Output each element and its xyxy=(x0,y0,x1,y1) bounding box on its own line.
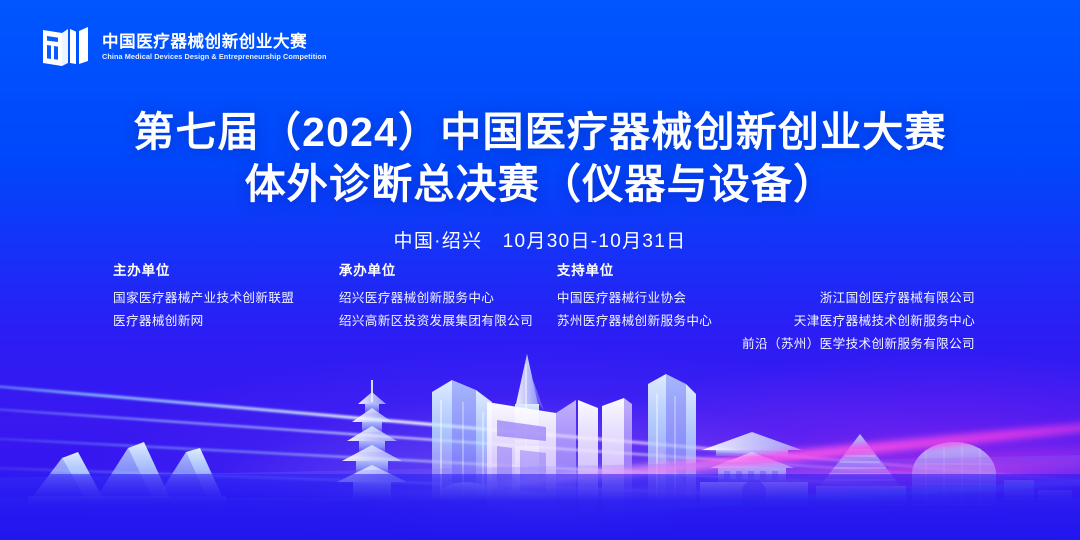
competition-logo-monument xyxy=(487,398,632,526)
organizer-column-supporter: 支持单位 中国医疗器械行业协会 苏州医疗器械创新服务中心 xyxy=(557,264,723,333)
column-heading: 支持单位 xyxy=(557,264,723,278)
ground-edge-glow xyxy=(0,453,1080,508)
organizer-item: 浙江国创医疗器械有限公司 xyxy=(723,287,975,310)
light-streak-3 xyxy=(0,430,1080,505)
organizer-item: 医疗器械创新网 xyxy=(113,310,339,333)
organizer-item: 前沿（苏州）医学技术创新服务有限公司 xyxy=(723,333,975,356)
page-title-line1: 第七届（2024）中国医疗器械创新创业大赛 xyxy=(0,106,1080,158)
brand-name-cn: 中国医疗器械创新创业大赛 xyxy=(102,34,326,51)
organizer-item: 天津医疗器械技术创新服务中心 xyxy=(723,310,975,333)
poster-canvas: 中国医疗器械创新创业大赛 China Medical Devices Desig… xyxy=(0,0,1080,540)
ground-plane xyxy=(0,474,1080,540)
magenta-beam-soft xyxy=(496,432,1080,522)
organizer-column-supporter-extra: 浙江国创医疗器械有限公司 天津医疗器械技术创新服务中心 前沿（苏州）医学技术创新… xyxy=(723,264,975,356)
organizer-column-host: 主办单位 国家医疗器械产业技术创新联盟 医疗器械创新网 xyxy=(113,264,339,333)
pagoda-tower xyxy=(337,380,407,500)
right-low-blocks xyxy=(1004,480,1072,506)
organizer-item: 苏州医疗器械创新服务中心 xyxy=(557,310,723,333)
organizer-item: 中国医疗器械行业协会 xyxy=(557,287,723,310)
light-streak-1 xyxy=(0,372,1080,497)
organizer-item: 绍兴医疗器械创新服务中心 xyxy=(339,287,557,310)
column-heading: 承办单位 xyxy=(339,264,557,278)
glass-skyscraper xyxy=(432,380,492,502)
title-block: 第七届（2024）中国医疗器械创新创业大赛 体外诊断总决赛（仪器与设备） 中国·… xyxy=(0,106,1080,253)
dome-arena xyxy=(912,442,996,506)
opera-house-silhouette xyxy=(28,442,226,506)
twin-glass-tower xyxy=(648,374,696,506)
magenta-beam xyxy=(431,406,1080,497)
stepped-stadium xyxy=(816,434,906,506)
organizer-column-undertaker: 承办单位 绍兴医疗器械创新服务中心 绍兴高新区投资发展集团有限公司 xyxy=(339,264,557,333)
horizon-glow-core xyxy=(216,492,907,498)
violet-glow-left xyxy=(0,367,562,540)
column-heading: 主办单位 xyxy=(113,264,339,278)
organizer-item: 绍兴高新区投资发展集团有限公司 xyxy=(339,310,557,333)
brand-logo-text: 中国医疗器械创新创业大赛 China Medical Devices Desig… xyxy=(102,34,326,61)
open-book-doors-logo-icon xyxy=(40,22,92,72)
light-streak-4 xyxy=(0,462,1080,513)
brand-name-en: China Medical Devices Design & Entrepren… xyxy=(102,53,326,60)
cityscape-illustration xyxy=(0,340,1080,540)
cyan-beam xyxy=(475,471,1080,521)
organizers-section: 主办单位 国家医疗器械产业技术创新联盟 医疗器械创新网 承办单位 绍兴医疗器械创… xyxy=(0,264,1080,356)
page-title-line2: 体外诊断总决赛（仪器与设备） xyxy=(0,158,1080,210)
organizer-item: 国家医疗器械产业技术创新联盟 xyxy=(113,287,339,310)
brand-logo[interactable]: 中国医疗器械创新创业大赛 China Medical Devices Desig… xyxy=(40,22,326,72)
spire-tower xyxy=(509,354,545,500)
event-subtitle: 中国·绍兴 10月30日-10月31日 xyxy=(0,226,1080,253)
city-gate-tower xyxy=(700,432,808,506)
light-streak-2 xyxy=(0,398,1080,498)
